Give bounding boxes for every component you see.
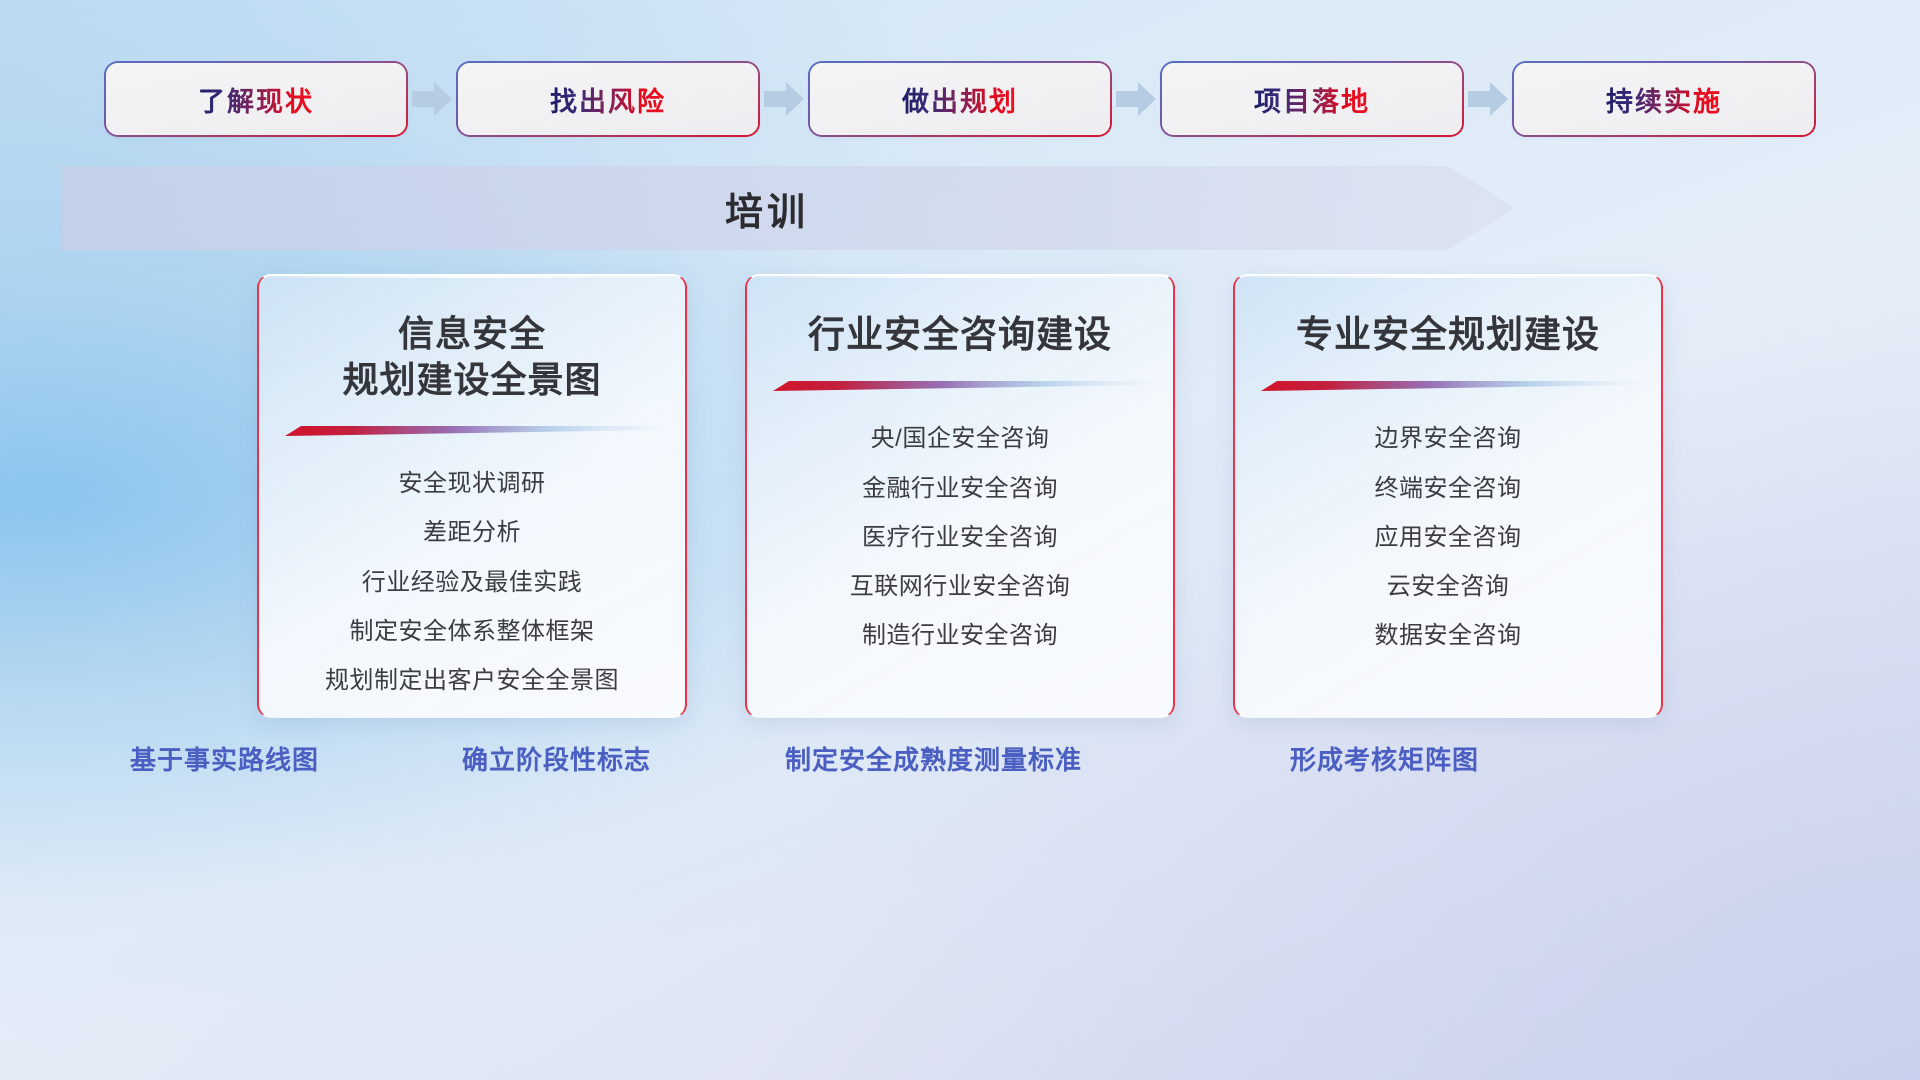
step-pill-label: 找出风险 <box>550 80 666 119</box>
card-list-item: 数据安全咨询 <box>1375 615 1522 656</box>
card-accent-underline <box>773 380 1147 392</box>
banner-title: 培训 <box>62 166 1472 250</box>
process-steps-bar: 了解现状找出风险做出规划项目落地持续实施 <box>0 60 1920 138</box>
training-banner: 培训 <box>62 166 1514 250</box>
step-pill-label: 项目落地 <box>1254 80 1370 119</box>
card-item-list: 安全现状调研差距分析行业经验及最佳实践制定安全体系整体框架规划制定出客户安全全景… <box>259 463 685 701</box>
step-pill-label: 了解现状 <box>198 80 314 119</box>
card-title: 行业安全咨询建设 <box>747 311 1173 358</box>
card-list-item: 金融行业安全咨询 <box>862 468 1058 509</box>
info-card-1[interactable]: 信息安全 规划建设全景图安全现状调研差距分析行业经验及最佳实践制定安全体系整体框… <box>257 274 687 718</box>
card-list-item: 云安全咨询 <box>1387 566 1510 607</box>
step-arrow-separator <box>758 60 810 138</box>
step-pill-3[interactable]: 做出规划 <box>810 63 1110 135</box>
card-list-item: 安全现状调研 <box>399 463 546 504</box>
card-list-item: 行业经验及最佳实践 <box>362 562 583 603</box>
caption-label-1: 基于事实路线图 <box>130 740 319 777</box>
card-list-item: 边界安全咨询 <box>1375 418 1522 459</box>
card-title: 信息安全 规划建设全景图 <box>259 311 685 403</box>
step-pill-1[interactable]: 了解现状 <box>106 63 406 135</box>
card-item-list: 央/国企安全咨询金融行业安全咨询医疗行业安全咨询互联网行业安全咨询制造行业安全咨… <box>747 418 1173 656</box>
step-arrow-separator <box>1462 60 1514 138</box>
step-pill-2[interactable]: 找出风险 <box>458 63 758 135</box>
card-list-item: 央/国企安全咨询 <box>871 418 1050 459</box>
card-list-item: 终端安全咨询 <box>1375 468 1522 509</box>
caption-label-2: 确立阶段性标志 <box>462 740 651 777</box>
caption-label-4: 形成考核矩阵图 <box>1290 740 1479 777</box>
card-list-item: 制定安全体系整体框架 <box>350 611 595 652</box>
right-arrow-icon <box>412 82 452 116</box>
step-pill-label: 做出规划 <box>902 80 1018 119</box>
right-arrow-icon <box>1116 82 1156 116</box>
step-pill-label: 持续实施 <box>1606 80 1722 119</box>
step-pill-5[interactable]: 持续实施 <box>1514 63 1814 135</box>
step-arrow-separator <box>1110 60 1162 138</box>
card-list-item: 应用安全咨询 <box>1375 517 1522 558</box>
caption-label-3: 制定安全成熟度测量标准 <box>785 740 1082 777</box>
cards-row: 信息安全 规划建设全景图安全现状调研差距分析行业经验及最佳实践制定安全体系整体框… <box>0 274 1920 718</box>
info-card-2[interactable]: 行业安全咨询建设央/国企安全咨询金融行业安全咨询医疗行业安全咨询互联网行业安全咨… <box>745 274 1175 718</box>
card-accent-underline <box>285 425 659 437</box>
step-arrow-separator <box>406 60 458 138</box>
card-list-item: 医疗行业安全咨询 <box>862 517 1058 558</box>
card-list-item: 制造行业安全咨询 <box>862 615 1058 656</box>
card-list-item: 规划制定出客户安全全景图 <box>325 660 619 701</box>
card-accent-underline <box>1261 380 1635 392</box>
right-arrow-icon <box>1468 82 1508 116</box>
card-title: 专业安全规划建设 <box>1235 311 1661 358</box>
step-pill-4[interactable]: 项目落地 <box>1162 63 1462 135</box>
card-list-item: 差距分析 <box>423 512 521 553</box>
captions-row: 基于事实路线图确立阶段性标志制定安全成熟度测量标准形成考核矩阵图 <box>0 740 1920 800</box>
info-card-3[interactable]: 专业安全规划建设边界安全咨询终端安全咨询应用安全咨询云安全咨询数据安全咨询 <box>1233 274 1663 718</box>
card-list-item: 互联网行业安全咨询 <box>850 566 1071 607</box>
card-item-list: 边界安全咨询终端安全咨询应用安全咨询云安全咨询数据安全咨询 <box>1235 418 1661 656</box>
right-arrow-icon <box>764 82 804 116</box>
